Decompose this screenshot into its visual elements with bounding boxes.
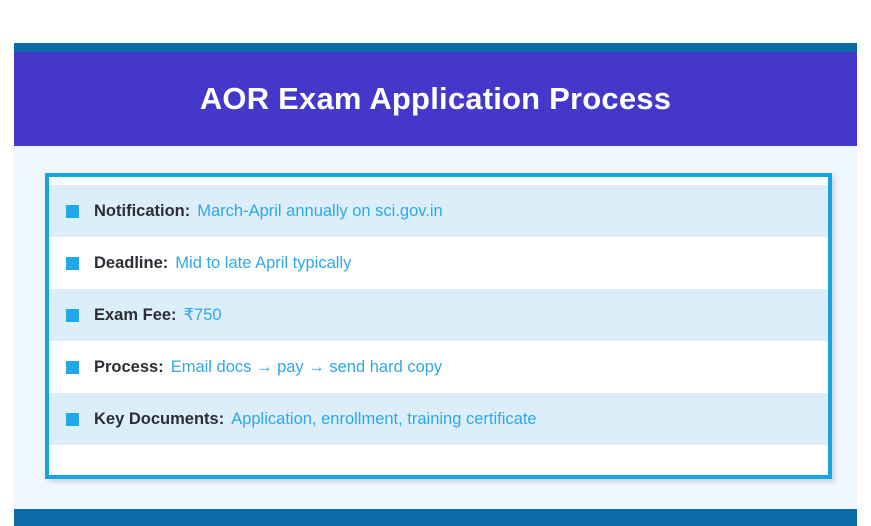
square-bullet-icon: [66, 205, 79, 218]
page-title: AOR Exam Application Process: [200, 81, 671, 117]
footer-accent-rule: [14, 509, 857, 526]
square-bullet-icon: [66, 361, 79, 374]
list-item-value: Mid to late April typically: [175, 254, 351, 273]
list-item-value: Application, enrollment, training certif…: [231, 410, 536, 429]
list-item-value: Email docs → pay → send hard copy: [171, 358, 442, 377]
square-bullet-icon: [66, 413, 79, 426]
top-accent-rule: [14, 43, 857, 52]
panel-body: Notification: March-April annually on sc…: [14, 146, 857, 526]
list-item-label: Notification:: [94, 202, 190, 221]
list-item: Exam Fee: ₹750: [49, 289, 828, 341]
list-item: Deadline: Mid to late April typically: [49, 237, 828, 289]
list-item: Notification: March-April annually on sc…: [49, 185, 828, 237]
square-bullet-icon: [66, 309, 79, 322]
details-card: Notification: March-April annually on sc…: [45, 173, 832, 479]
infographic-panel: AOR Exam Application Process Notificatio…: [14, 43, 857, 526]
list-item-label: Deadline:: [94, 254, 168, 273]
square-bullet-icon: [66, 257, 79, 270]
list-item-value: March-April annually on sci.gov.in: [197, 202, 442, 221]
list-item: Key Documents: Application, enrollment, …: [49, 393, 828, 445]
list-item-label: Key Documents:: [94, 410, 224, 429]
list-item-value: ₹750: [184, 305, 222, 325]
list-item-label: Exam Fee:: [94, 306, 177, 325]
title-banner: AOR Exam Application Process: [14, 52, 857, 146]
list-item-label: Process:: [94, 358, 164, 377]
list-item: Process: Email docs → pay → send hard co…: [49, 341, 828, 393]
